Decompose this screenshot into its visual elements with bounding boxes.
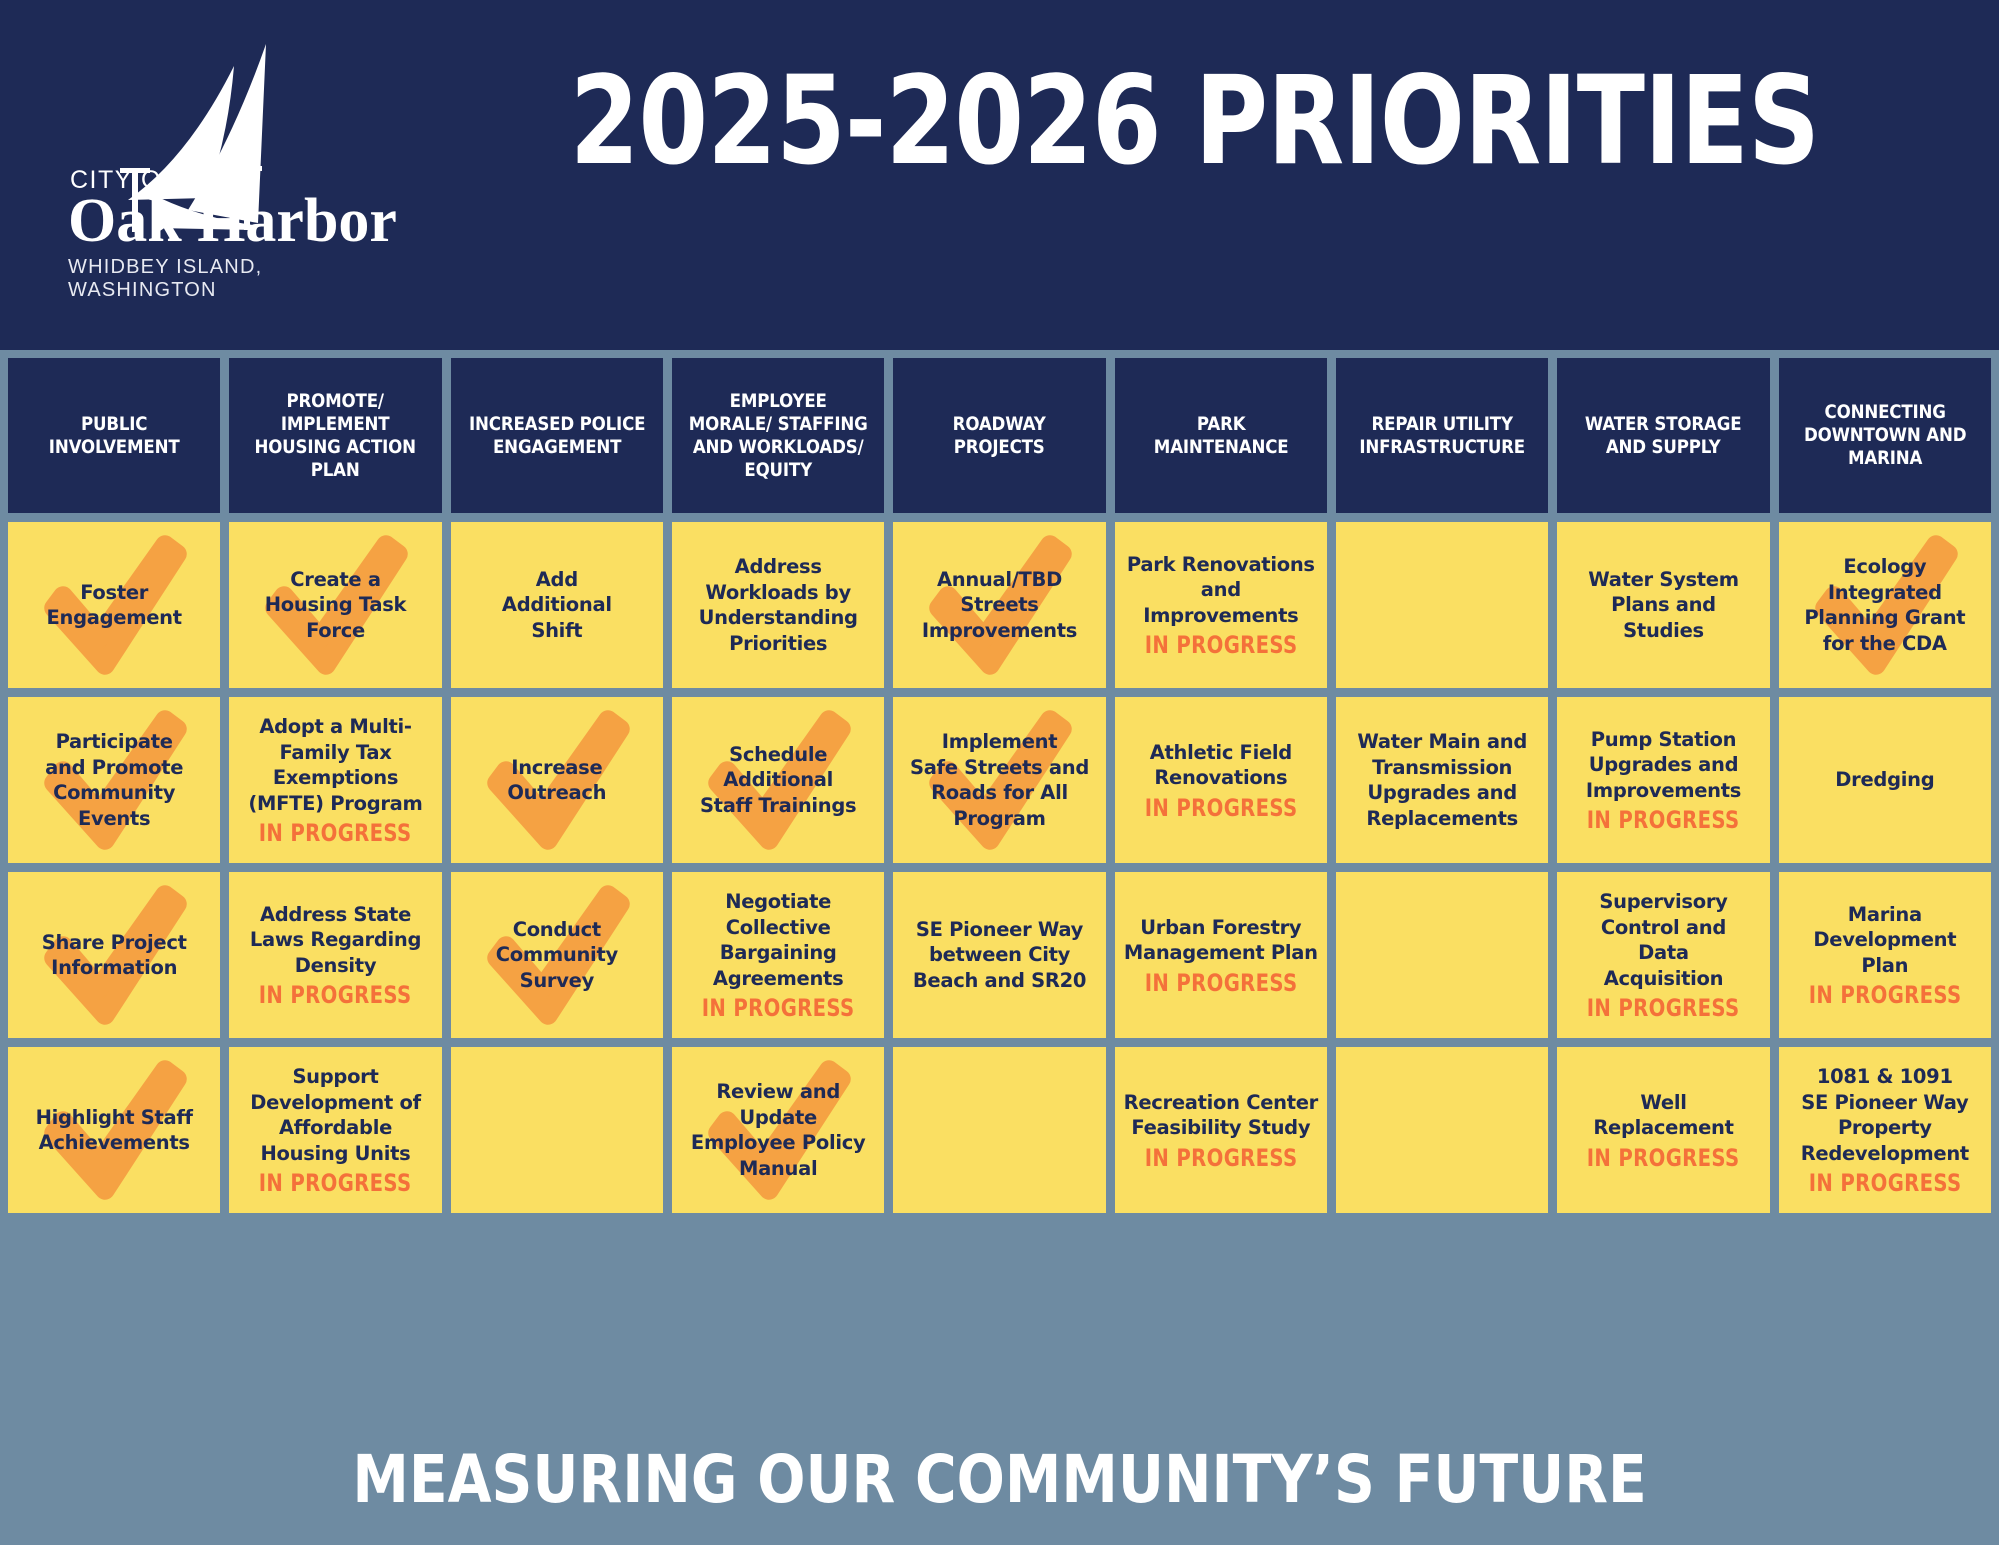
priority-label: Schedule Additional Staff Trainings [700, 742, 856, 819]
column-header-connecting-downtown-and-marina: CONNECTING DOWNTOWN AND MARINA [1779, 358, 1991, 513]
priority-cell: Ecology Integrated Planning Grant for th… [1779, 522, 1991, 688]
priority-label: Add Additional Shift [502, 567, 612, 644]
priority-cell: Marina Development PlanIN PROGRESS [1779, 872, 1991, 1038]
column-header-employee-morale-staffing-and-workloads-e: EMPLOYEE MORALE/ STAFFING AND WORKLOADS/… [672, 358, 884, 513]
priority-cell: Recreation Center Feasibility StudyIN PR… [1115, 1047, 1327, 1213]
status-badge: IN PROGRESS [259, 1170, 412, 1196]
column-header-label: EMPLOYEE MORALE/ STAFFING AND WORKLOADS/… [687, 390, 869, 482]
priority-label: Implement Safe Streets and Roads for All… [910, 729, 1089, 831]
priority-label: Review and Update Employee Policy Manual [691, 1079, 865, 1181]
priority-cell: Support Development of Affordable Housin… [229, 1047, 441, 1213]
logo-oak-harbor-text: Oak Harbor [68, 190, 397, 252]
priority-cell: Supervisory Control and Data Acquisition… [1557, 872, 1769, 1038]
priority-label: Address State Laws Regarding Density [250, 902, 421, 979]
priority-label: Water Main and Transmission Upgrades and… [1357, 729, 1527, 831]
priorities-grid: PUBLIC INVOLVEMENTPROMOTE/ IMPLEMENT HOU… [0, 350, 1999, 1415]
priority-cell: Create a Housing Task Force [229, 522, 441, 688]
poster-header: CITY OF Oak Harbor WHIDBEY ISLAND, WASHI… [0, 0, 1999, 350]
priority-cell: Negotiate Collective Bargaining Agreemen… [672, 872, 884, 1038]
column-header-label: REPAIR UTILITY INFRASTRUCTURE [1351, 413, 1533, 459]
priority-label: Park Renovations and Improvements [1127, 552, 1315, 629]
column-header-increased-police-engagement: INCREASED POLICE ENGAGEMENT [451, 358, 663, 513]
priority-cell: Share Project Information [8, 872, 220, 1038]
priority-label: Supervisory Control and Data Acquisition [1599, 889, 1727, 991]
page-title: 2025-2026 PRIORITIES [559, 56, 1829, 186]
priority-cell: Athletic Field RenovationsIN PROGRESS [1115, 697, 1327, 863]
priority-label: Dredging [1835, 767, 1934, 793]
priority-label: Increase Outreach [507, 755, 606, 806]
priority-cell: Review and Update Employee Policy Manual [672, 1047, 884, 1213]
column-header-promote-implement-housing-action-plan: PROMOTE/ IMPLEMENT HOUSING ACTION PLAN [229, 358, 441, 513]
priority-label: 1081 & 1091 SE Pioneer Way Property Rede… [1801, 1064, 1969, 1166]
priority-cell: Water System Plans and Studies [1557, 522, 1769, 688]
city-logo: CITY OF Oak Harbor WHIDBEY ISLAND, WASHI… [28, 18, 408, 318]
status-badge: IN PROGRESS [1587, 995, 1740, 1021]
status-badge: IN PROGRESS [702, 995, 855, 1021]
status-badge: IN PROGRESS [259, 982, 412, 1008]
column-header-label: WATER STORAGE AND SUPPLY [1572, 413, 1754, 459]
priority-label: Athletic Field Renovations [1150, 740, 1292, 791]
priority-cell: 1081 & 1091 SE Pioneer Way Property Rede… [1779, 1047, 1991, 1213]
priority-label: Participate and Promote Community Events [45, 729, 183, 831]
priority-label: Share Project Information [42, 930, 187, 981]
column-header-repair-utility-infrastructure: REPAIR UTILITY INFRASTRUCTURE [1336, 358, 1548, 513]
priority-label: SE Pioneer Way between City Beach and SR… [913, 917, 1086, 994]
column-header-label: PARK MAINTENANCE [1130, 413, 1312, 459]
status-badge: IN PROGRESS [1808, 1170, 1961, 1196]
priority-cell: Schedule Additional Staff Trainings [672, 697, 884, 863]
priority-cell: Adopt a Multi- Family Tax Exemptions (MF… [229, 697, 441, 863]
footer-tagline: MEASURING OUR COMMUNITY’S FUTURE [352, 1445, 1646, 1515]
priority-cell: Conduct Community Survey [451, 872, 663, 1038]
priority-label: Annual/TBD Streets Improvements [922, 567, 1077, 644]
priority-cell: Water Main and Transmission Upgrades and… [1336, 697, 1548, 863]
column-header-label: PROMOTE/ IMPLEMENT HOUSING ACTION PLAN [244, 390, 426, 482]
priority-label: Foster Engagement [47, 580, 182, 631]
priority-cell: Add Additional Shift [451, 522, 663, 688]
status-badge: IN PROGRESS [1144, 632, 1297, 658]
priority-cell: Dredging [1779, 697, 1991, 863]
priority-label: Create a Housing Task Force [265, 567, 406, 644]
status-badge: IN PROGRESS [1808, 982, 1961, 1008]
priority-cell: Participate and Promote Community Events [8, 697, 220, 863]
priority-cell: Address State Laws Regarding DensityIN P… [229, 872, 441, 1038]
priority-label: Pump Station Upgrades and Improvements [1586, 727, 1741, 804]
status-badge: IN PROGRESS [1587, 1145, 1740, 1171]
priority-label: Negotiate Collective Bargaining Agreemen… [713, 889, 843, 991]
priority-label: Marina Development Plan [1813, 902, 1956, 979]
priority-label: Address Workloads by Understanding Prior… [699, 554, 858, 656]
column-header-label: PUBLIC INVOLVEMENT [23, 413, 205, 459]
column-header-roadway-projects: ROADWAY PROJECTS [893, 358, 1105, 513]
priority-cell-empty [1336, 1047, 1548, 1213]
column-header-label: ROADWAY PROJECTS [908, 413, 1090, 459]
priority-label: Highlight Staff Achievements [36, 1105, 193, 1156]
priority-cell: Urban Forestry Management PlanIN PROGRES… [1115, 872, 1327, 1038]
priority-cell-empty [893, 1047, 1105, 1213]
priority-cell: Implement Safe Streets and Roads for All… [893, 697, 1105, 863]
status-badge: IN PROGRESS [1144, 795, 1297, 821]
priority-label: Support Development of Affordable Housin… [250, 1064, 421, 1166]
column-header-label: CONNECTING DOWNTOWN AND MARINA [1794, 401, 1976, 470]
priority-cell-empty [451, 1047, 663, 1213]
priority-cell-empty [1336, 522, 1548, 688]
status-badge: IN PROGRESS [1144, 1145, 1297, 1171]
priority-label: Well Replacement [1593, 1090, 1733, 1141]
priority-cell: Increase Outreach [451, 697, 663, 863]
status-badge: IN PROGRESS [259, 820, 412, 846]
priority-label: Conduct Community Survey [496, 917, 618, 994]
poster-footer: MEASURING OUR COMMUNITY’S FUTURE [0, 1415, 1999, 1545]
priority-label: Recreation Center Feasibility Study [1124, 1090, 1318, 1141]
priority-label: Adopt a Multi- Family Tax Exemptions (MF… [248, 714, 422, 816]
priority-cell-empty [1336, 872, 1548, 1038]
priority-cell: SE Pioneer Way between City Beach and SR… [893, 872, 1105, 1038]
column-header-public-involvement: PUBLIC INVOLVEMENT [8, 358, 220, 513]
logo-whidbey-island-text: WHIDBEY ISLAND, WASHINGTON [68, 256, 408, 302]
priority-cell: Pump Station Upgrades and ImprovementsIN… [1557, 697, 1769, 863]
status-badge: IN PROGRESS [1587, 807, 1740, 833]
priority-cell: Address Workloads by Understanding Prior… [672, 522, 884, 688]
priority-cell: Park Renovations and ImprovementsIN PROG… [1115, 522, 1327, 688]
priority-label: Ecology Integrated Planning Grant for th… [1804, 554, 1965, 656]
priority-cell: Foster Engagement [8, 522, 220, 688]
column-header-park-maintenance: PARK MAINTENANCE [1115, 358, 1327, 513]
priority-label: Urban Forestry Management Plan [1124, 915, 1318, 966]
column-header-label: INCREASED POLICE ENGAGEMENT [466, 413, 648, 459]
priority-cell: Well ReplacementIN PROGRESS [1557, 1047, 1769, 1213]
priority-cell: Annual/TBD Streets Improvements [893, 522, 1105, 688]
priority-label: Water System Plans and Studies [1588, 567, 1739, 644]
column-header-water-storage-and-supply: WATER STORAGE AND SUPPLY [1557, 358, 1769, 513]
priority-cell: Highlight Staff Achievements [8, 1047, 220, 1213]
priorities-poster: CITY OF Oak Harbor WHIDBEY ISLAND, WASHI… [0, 0, 1999, 1545]
status-badge: IN PROGRESS [1144, 970, 1297, 996]
